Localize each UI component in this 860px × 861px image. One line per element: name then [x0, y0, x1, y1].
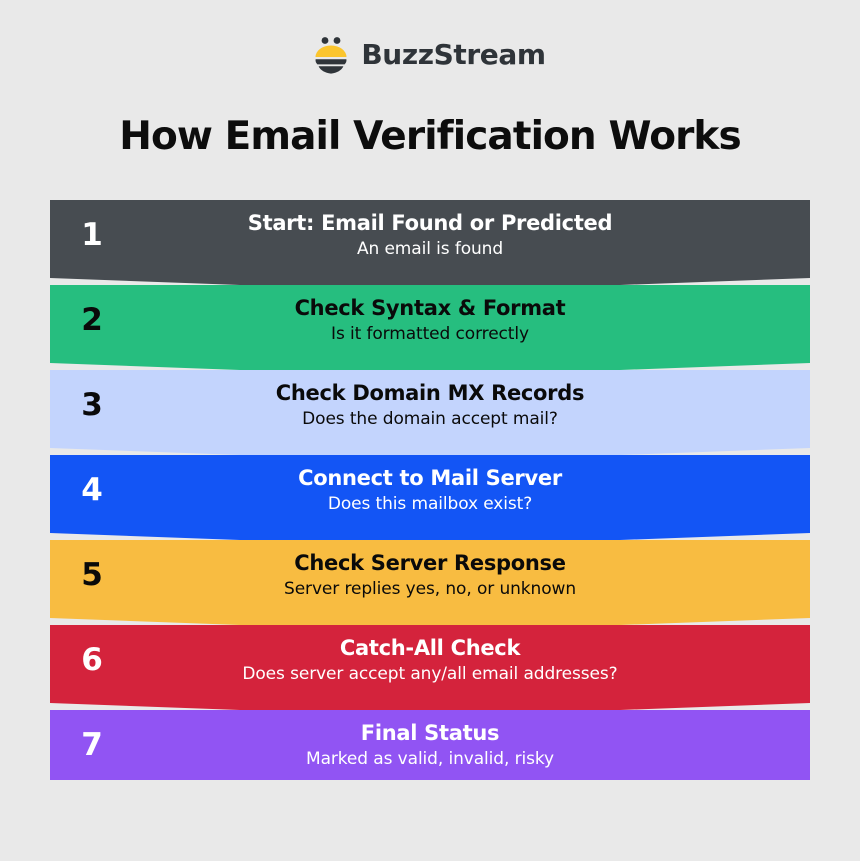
funnel-step-heading: Catch-All Check [128, 635, 732, 661]
funnel-step-number: 2 [50, 305, 128, 336]
funnel-step-heading: Check Domain MX Records [128, 380, 732, 406]
brand-logo: BuzzStream [0, 0, 860, 79]
funnel-step-number: 1 [50, 220, 128, 251]
funnel-step-subtext: Does server accept any/all email address… [128, 663, 732, 685]
funnel-step-subtext: Does this mailbox exist? [128, 493, 732, 515]
funnel-step: 4Connect to Mail ServerDoes this mailbox… [50, 455, 810, 540]
funnel-step-number: 4 [50, 475, 128, 506]
funnel-step: 6Catch-All CheckDoes server accept any/a… [50, 625, 810, 710]
funnel-step-heading: Start: Email Found or Predicted [128, 210, 732, 236]
funnel-step-number: 5 [50, 560, 128, 591]
funnel-step: 1Start: Email Found or PredictedAn email… [50, 200, 810, 285]
bee-icon [314, 36, 348, 74]
funnel-step-heading: Connect to Mail Server [128, 465, 732, 491]
funnel-step: 2Check Syntax & FormatIs it formatted co… [50, 285, 810, 370]
funnel-step-number: 3 [50, 390, 128, 421]
funnel-step-heading: Final Status [128, 720, 732, 746]
funnel-step-number: 6 [50, 645, 128, 676]
funnel-step: 7Final StatusMarked as valid, invalid, r… [50, 710, 810, 788]
funnel-step-text: Final StatusMarked as valid, invalid, ri… [128, 720, 810, 770]
funnel-step-heading: Check Syntax & Format [128, 295, 732, 321]
funnel-step-text: Start: Email Found or PredictedAn email … [128, 210, 810, 260]
funnel-step-text: Check Server ResponseServer replies yes,… [128, 550, 810, 600]
funnel-step-subtext: Is it formatted correctly [128, 323, 732, 345]
funnel-step-text: Check Syntax & FormatIs it formatted cor… [128, 295, 810, 345]
funnel-step-subtext: Server replies yes, no, or unknown [128, 578, 732, 600]
funnel-step-subtext: Does the domain accept mail? [128, 408, 732, 430]
funnel-step-text: Connect to Mail ServerDoes this mailbox … [128, 465, 810, 515]
brand-name: BuzzStream [361, 41, 545, 69]
funnel-step-subtext: An email is found [128, 238, 732, 260]
funnel-step: 5Check Server ResponseServer replies yes… [50, 540, 810, 625]
funnel-step-heading: Check Server Response [128, 550, 732, 576]
funnel-step-text: Check Domain MX RecordsDoes the domain a… [128, 380, 810, 430]
funnel-step: 3Check Domain MX RecordsDoes the domain … [50, 370, 810, 455]
funnel-step-number: 7 [50, 730, 128, 761]
page-title: How Email Verification Works [0, 79, 860, 159]
funnel-diagram: 1Start: Email Found or PredictedAn email… [50, 200, 810, 788]
funnel-step-text: Catch-All CheckDoes server accept any/al… [128, 635, 810, 685]
funnel-step-subtext: Marked as valid, invalid, risky [128, 748, 732, 770]
